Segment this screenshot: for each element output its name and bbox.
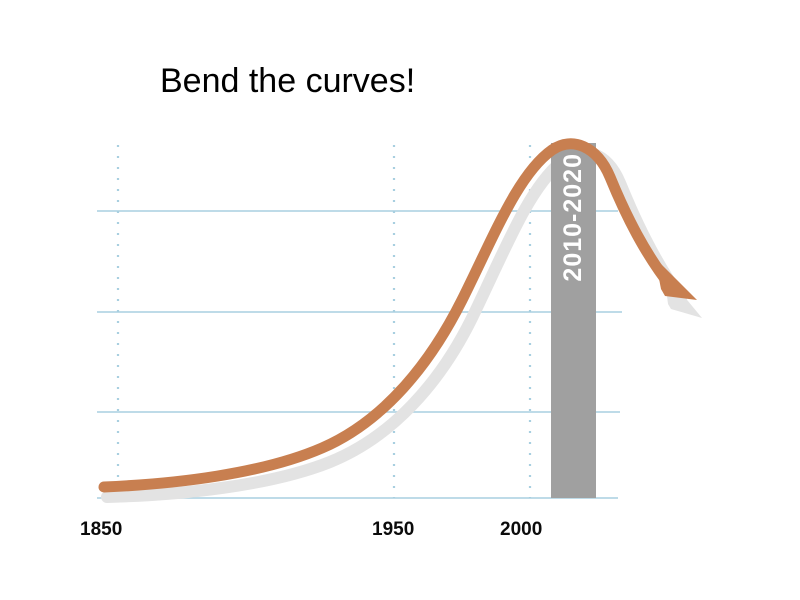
x-axis-label-2000: 2000 (500, 519, 542, 541)
shadow-curve (107, 153, 702, 497)
x-axis-label-1950: 1950 (372, 519, 414, 541)
main-curve (104, 144, 697, 487)
main-arrowhead (655, 258, 697, 300)
bend-the-curves-chart (0, 0, 800, 600)
slide-canvas: Bend the curves! 2010-2020 (0, 0, 800, 600)
highlight-band-2010-2020 (551, 143, 596, 498)
horizontal-gridlines (97, 211, 622, 498)
x-axis-label-1850: 1850 (80, 519, 122, 541)
